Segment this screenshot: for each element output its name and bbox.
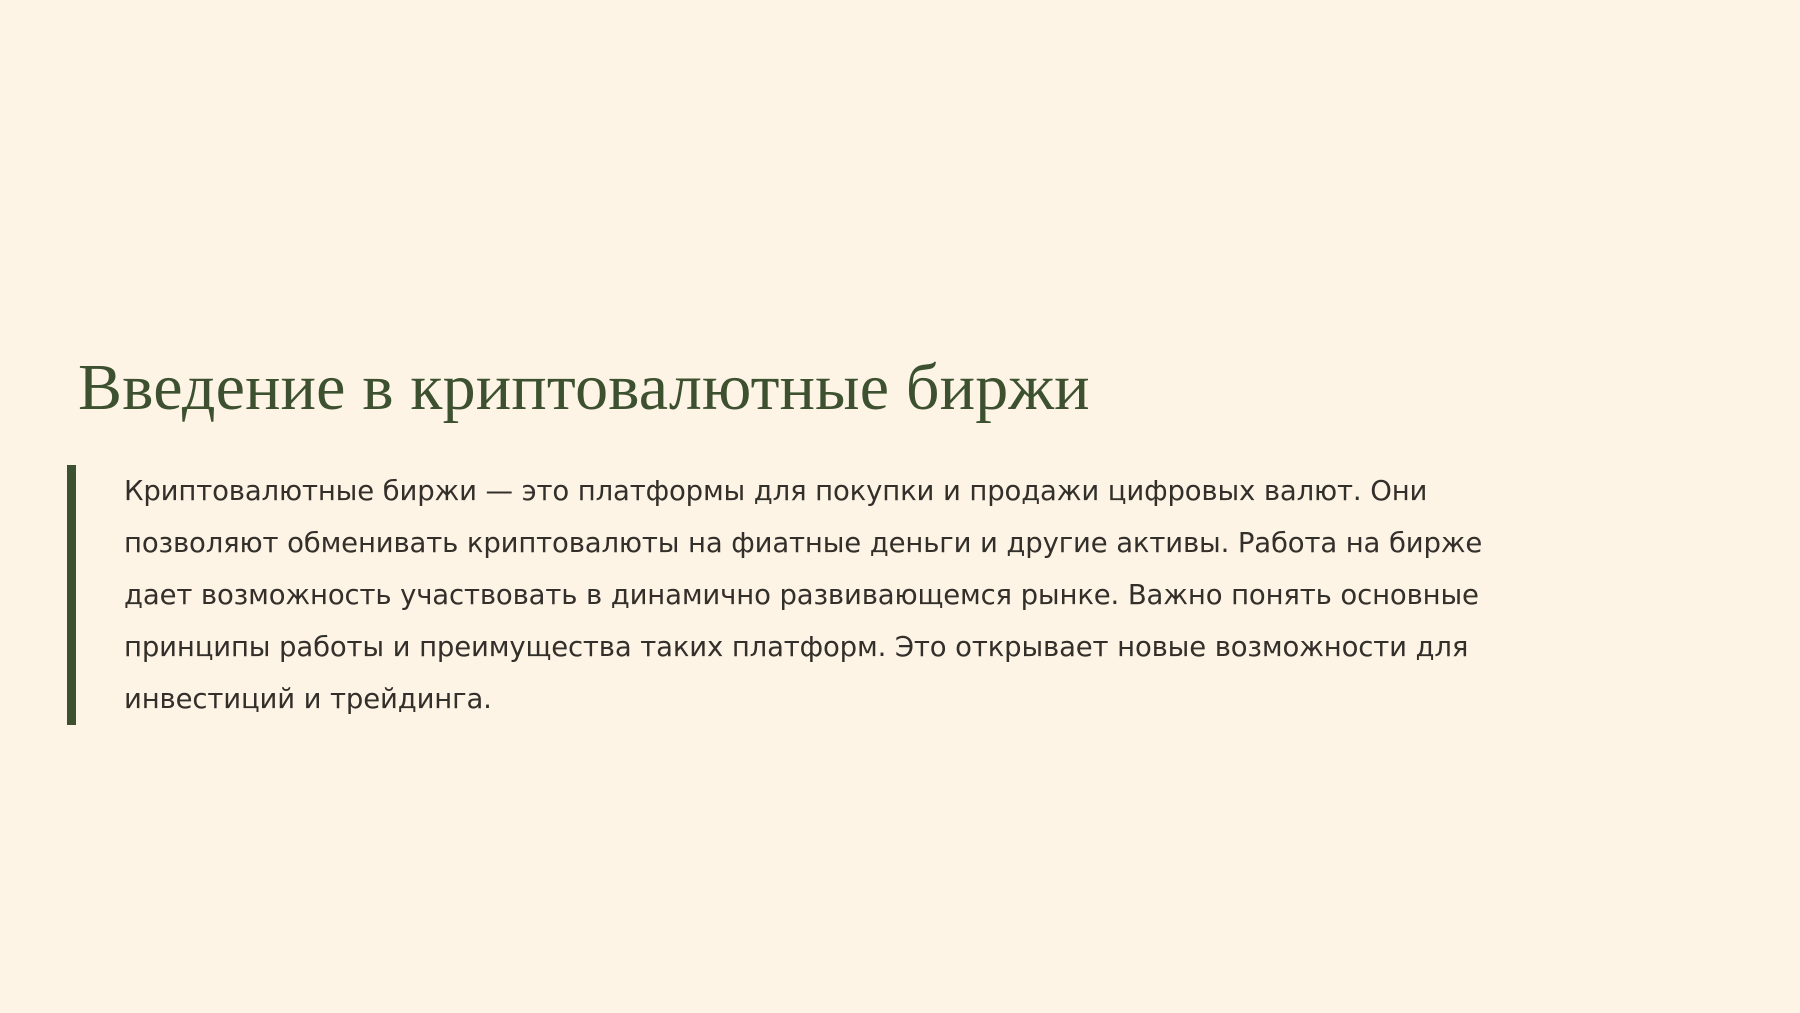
accent-bar (67, 465, 76, 725)
page-title: Введение в криптовалютные биржи (78, 352, 1090, 423)
slide-canvas: Введение в криптовалютные биржи Криптова… (0, 0, 1800, 1013)
quote-paragraph: Криптовалютные биржи — это платформы для… (124, 465, 1524, 725)
quote-body: Криптовалютные биржи — это платформы для… (76, 465, 1707, 725)
callout-quote-block: Криптовалютные биржи — это платформы для… (67, 465, 1707, 725)
